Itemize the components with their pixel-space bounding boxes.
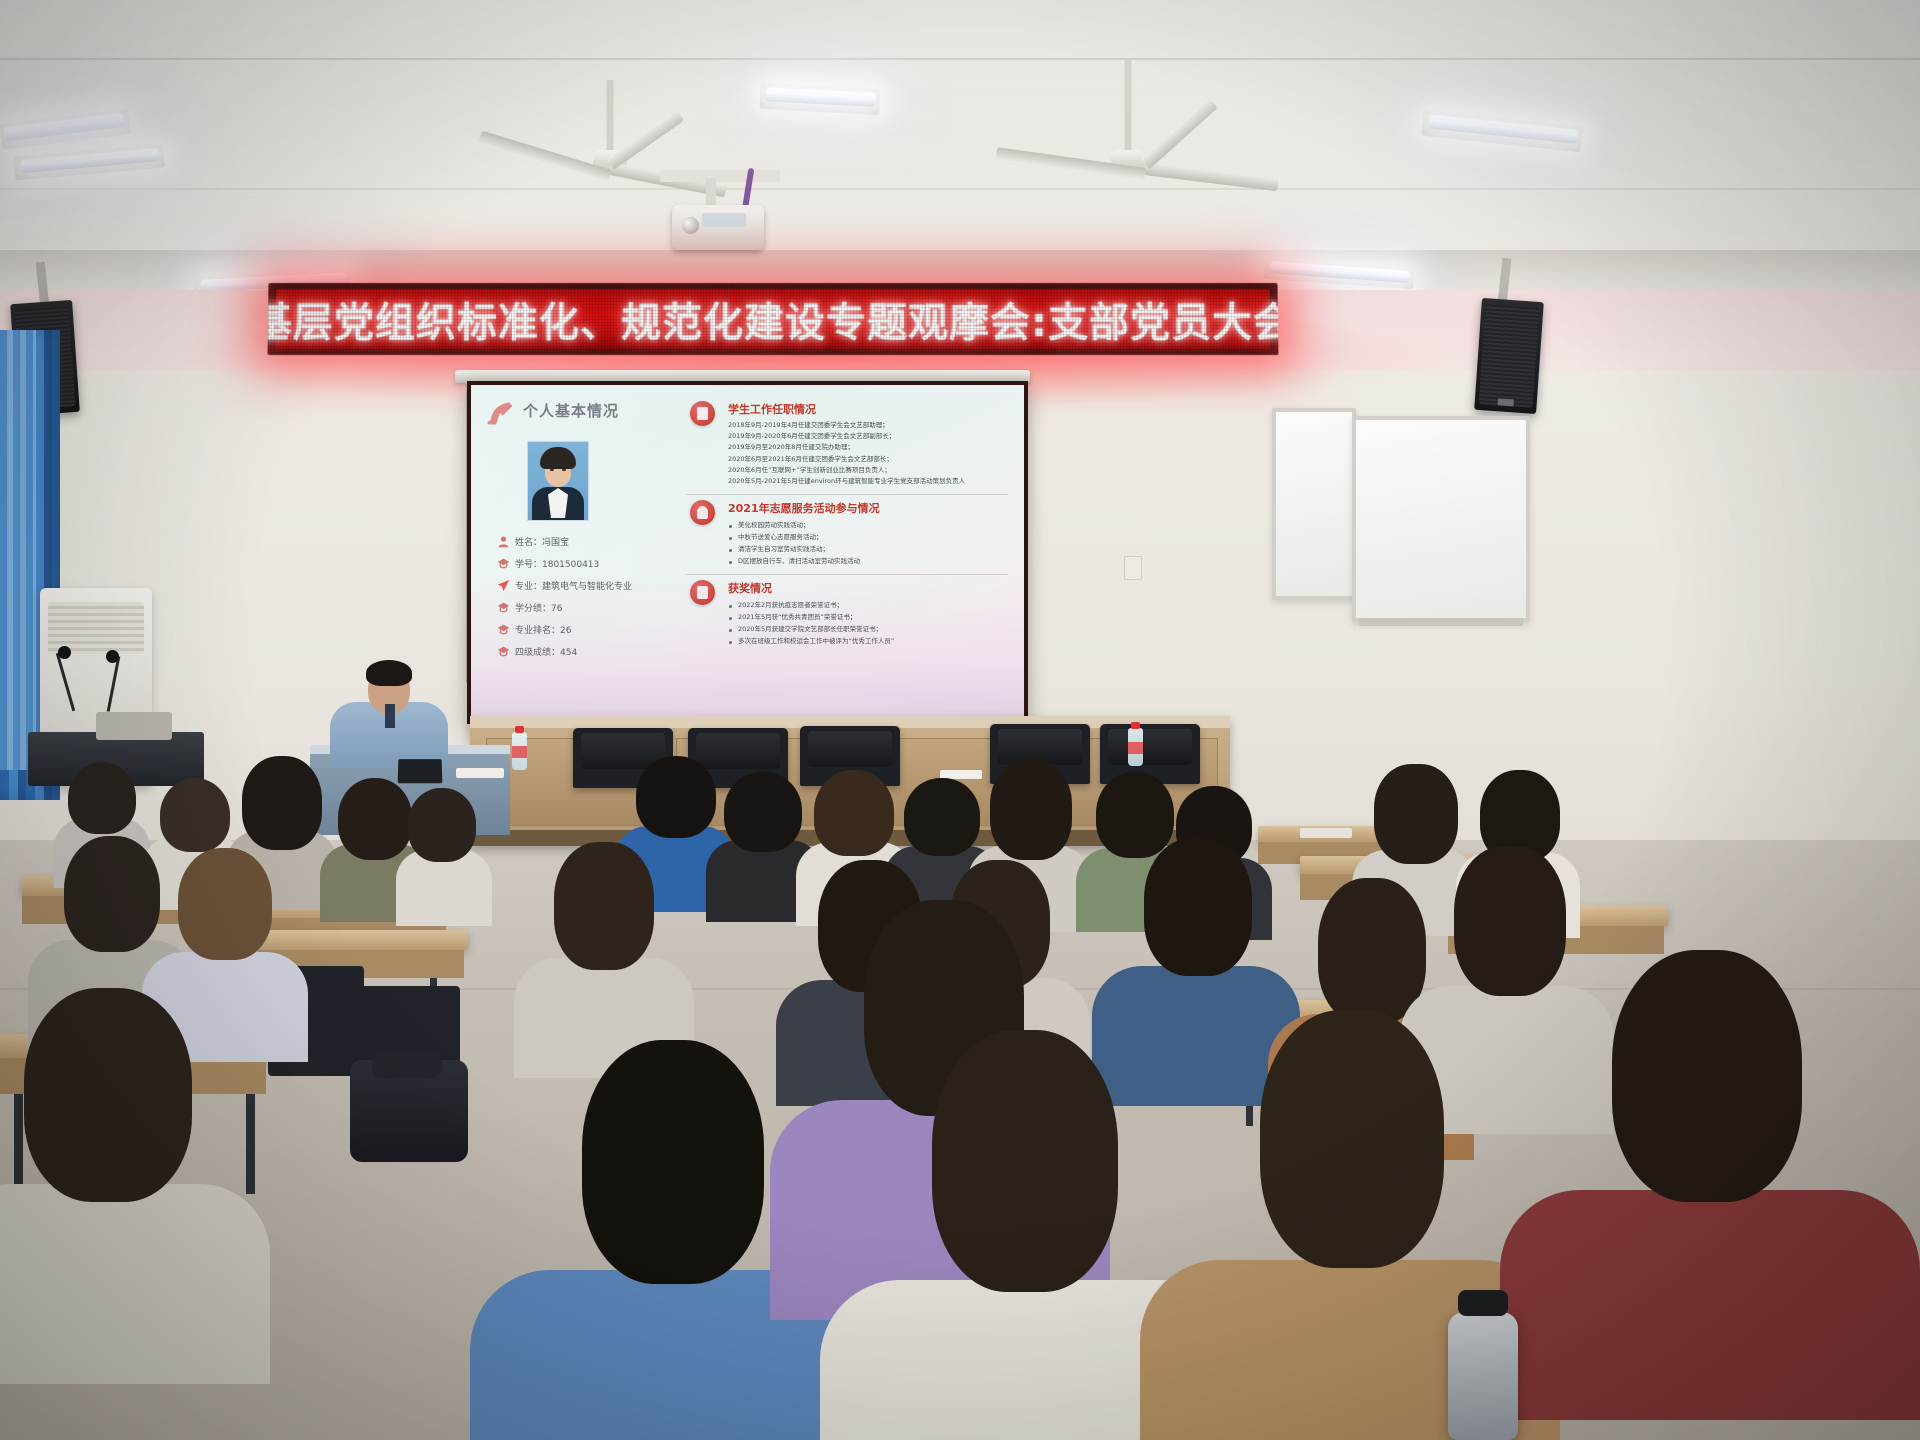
ceiling-seam (0, 188, 1920, 190)
section-bullet: 2020年5月获建交学院文艺部部长任职荣誉证书； (728, 623, 1008, 635)
person-head (990, 760, 1072, 860)
presentation-slide: 个人基本情况 姓名：冯国宝 学号：1801500413 (471, 385, 1024, 720)
section-bullet: D区摆放自行车、清扫活动室劳动实践活动 (728, 555, 1008, 567)
person-head (904, 778, 980, 856)
audience-person-foreground (0, 988, 220, 1318)
presenter-hair (366, 660, 412, 686)
ceiling-fan (1000, 60, 1300, 200)
led-banner-inner: 基层党组织标准化、规范化建设专题观摩会:支部党员大会 (276, 289, 1271, 349)
section-line: 2020年5月-2021年5月任建environ环与建筑智能专业学生党支部活动策… (728, 476, 1008, 487)
whiteboard-tray (1359, 618, 1522, 626)
section-bullet: 2021年5月获“优秀共青团员”荣誉证书； (728, 611, 1008, 623)
audience-person-foreground (540, 1040, 800, 1440)
projector-lens-icon (682, 217, 699, 234)
section-bullet: 美化校园劳动实践活动； (728, 519, 1008, 531)
led-banner-text: 基层党组织标准化、规范化建设专题观摩会:支部党员大会 (268, 290, 1279, 348)
fan-blade (1141, 98, 1218, 169)
whiteboard-small (1272, 408, 1356, 600)
cap-icon (497, 557, 510, 570)
info-text: 学号：1801500413 (515, 557, 599, 570)
section-line: 2020年6月至2021年6月任建交团委学生会文艺部部长； (728, 454, 1008, 465)
info-text: 姓名：冯国宝 (515, 535, 569, 548)
projector-mount-rod (706, 178, 716, 208)
presenter (330, 656, 448, 768)
speaker-grill (1478, 304, 1539, 408)
fan-blade (1144, 162, 1279, 191)
hammer-and-sickle-party-emblem (485, 398, 519, 430)
personal-info-list: 姓名：冯国宝 学号：1801500413 专业：建筑电气与智能化专业 学分绩：7… (497, 535, 657, 667)
person-head (160, 778, 230, 852)
fan-blade (606, 110, 684, 170)
person-head (636, 756, 716, 838)
section-heading: 学生工作任职情况 (728, 401, 1008, 417)
microphone-head (106, 650, 119, 663)
person-head (1318, 878, 1426, 1024)
plane-icon (497, 579, 510, 592)
desk (258, 930, 468, 950)
control-box (96, 712, 172, 740)
student-id-photo (527, 441, 589, 521)
section-bullet: 多次在班级工作和校运会工作中被评为“优秀工作人员” (728, 635, 1008, 647)
classroom-photo-scene: 基层党组织标准化、规范化建设专题观摩会:支部党员大会 个人 (0, 0, 1920, 1440)
person-head (1260, 1010, 1444, 1268)
slide-section-awards: 获奖情况 2022年2月获抗疫志愿者荣誉证书； 2021年5月获“优秀共青团员”… (686, 580, 1008, 647)
person-head (724, 772, 802, 852)
person-head (338, 778, 412, 860)
info-row: 姓名：冯国宝 (497, 535, 657, 548)
person-head (1612, 950, 1802, 1202)
award-badge-icon (690, 580, 715, 605)
person-torso (1500, 1190, 1920, 1420)
ceiling-seam (0, 58, 1920, 60)
section-line: 2019年9月至2020年8月任建交院办助理； (728, 442, 1008, 453)
thermos-cap (1458, 1290, 1508, 1316)
volunteer-badge-icon (690, 500, 715, 525)
person-head (582, 1040, 764, 1284)
projector-mount-plate (660, 170, 780, 182)
cap-icon (497, 623, 510, 636)
thermos-bottle[interactable] (1448, 1312, 1518, 1440)
wall-speaker-right (1474, 298, 1544, 414)
bottle-label (512, 746, 527, 758)
cap-icon (497, 645, 510, 658)
person-head (64, 836, 160, 952)
person-icon (497, 535, 510, 548)
person-torso (0, 1184, 270, 1384)
person-head (242, 756, 322, 850)
wall-outlet[interactable] (1124, 556, 1142, 580)
person-head (554, 842, 654, 970)
person-head (408, 788, 476, 862)
info-text: 专业：建筑电气与智能化专业 (515, 579, 632, 592)
projection-screen: 个人基本情况 姓名：冯国宝 学号：1801500413 (467, 381, 1028, 724)
section-divider (686, 494, 1008, 495)
window-curtain-inner (0, 330, 36, 770)
section-bullet: 清洁学生自习室劳动实践活动； (728, 543, 1008, 555)
bottle-label (1128, 742, 1143, 754)
led-scrolling-banner: 基层党组织标准化、规范化建设专题观摩会:支部党员大会 (268, 283, 1279, 355)
fan-blade (478, 131, 612, 183)
info-row: 学分绩：76 (497, 601, 657, 614)
audience-person-foreground (880, 1030, 1160, 1440)
person-head (178, 848, 272, 960)
whiteboard-large (1352, 416, 1530, 622)
audience-person-foreground (1210, 1010, 1480, 1440)
section-heading: 获奖情况 (728, 580, 1008, 596)
person-head (1454, 846, 1566, 996)
cap-icon (497, 601, 510, 614)
water-bottle[interactable] (512, 732, 527, 770)
document-badge-icon (690, 401, 715, 426)
section-line: 2020年6月任“互联网+”学生创新创业比赛项目负责人； (728, 465, 1008, 476)
microphone-head (58, 646, 71, 659)
section-bullet: 中秋节送爱心志愿服务活动； (728, 531, 1008, 543)
person-head (24, 988, 192, 1202)
photo-eye (550, 469, 554, 471)
photo-eye (562, 469, 566, 471)
paper-stack[interactable] (456, 768, 504, 778)
photo-hair (540, 447, 576, 469)
water-bottle[interactable] (1128, 728, 1143, 766)
slide-section-volunteer: 2021年志愿服务活动参与情况 美化校园劳动实践活动； 中秋节送爱心志愿服务活动… (686, 500, 1008, 567)
paper-on-desk[interactable] (1300, 828, 1352, 838)
info-text: 专业排名：26 (515, 623, 571, 636)
section-line: 2019年9月-2020年6月任建交团委学生会文艺部副部长； (728, 431, 1008, 442)
backpack-handle (372, 1052, 442, 1078)
bottle-cap (515, 726, 524, 733)
slide-right-panel: 学生工作任职情况 2018年9月-2019年4月任建交团委学生会文艺部助理； 2… (686, 401, 1008, 654)
presenter-tie (385, 704, 395, 728)
info-row: 四级成绩：454 (497, 645, 657, 658)
info-text: 四级成绩：454 (515, 645, 577, 658)
slide-section-work: 学生工作任职情况 2018年9月-2019年4月任建交团委学生会文艺部助理； 2… (686, 401, 1008, 487)
section-line: 2018年9月-2019年4月任建交团委学生会文艺部助理； (728, 420, 1008, 431)
section-divider (686, 574, 1008, 575)
audience-person (540, 842, 666, 1048)
audience-person (402, 788, 484, 914)
info-row: 专业排名：26 (497, 623, 657, 636)
projector-label (702, 213, 746, 227)
ceiling-projector (672, 205, 764, 250)
audience-person-foreground (1560, 950, 1840, 1380)
section-bullet: 2022年2月获抗疫志愿者荣誉证书； (728, 599, 1008, 611)
speaker-logo (1498, 398, 1514, 406)
desk-leg (246, 1094, 255, 1194)
person-head (68, 762, 136, 834)
person-head (932, 1030, 1118, 1292)
info-row: 专业：建筑电气与智能化专业 (497, 579, 657, 592)
info-text: 学分绩：76 (515, 601, 562, 614)
bottle-cap (1131, 722, 1140, 729)
person-head (1144, 838, 1252, 976)
section-heading: 2021年志愿服务活动参与情况 (728, 500, 1008, 516)
slide-title: 个人基本情况 (523, 400, 619, 421)
info-row: 学号：1801500413 (497, 557, 657, 570)
person-head (814, 770, 894, 856)
